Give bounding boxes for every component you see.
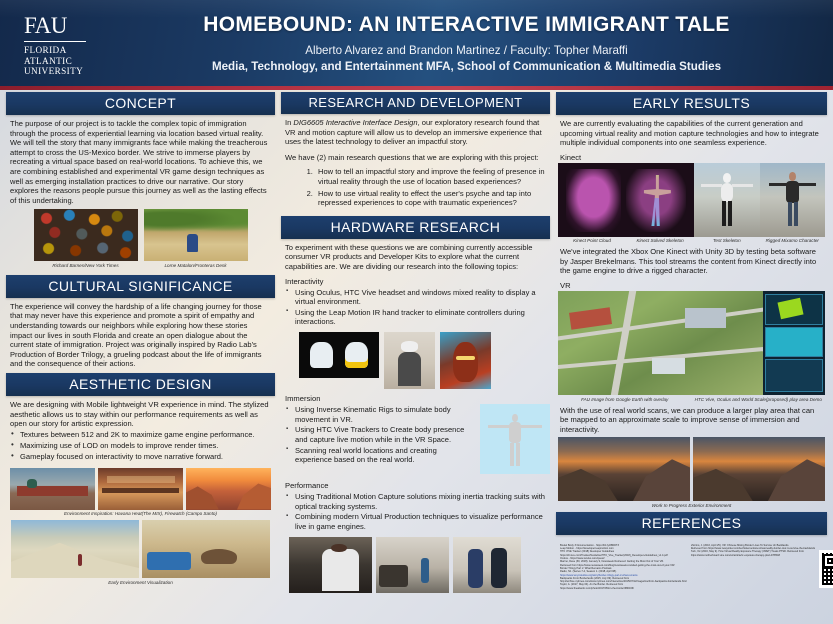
- image-kinect-point-cloud-art: [558, 163, 694, 237]
- image-mocap-performers: [453, 537, 521, 593]
- middle-column: RESEARCH AND DEVELOPMENT In DIG6605 Inte…: [281, 92, 550, 624]
- performance-image-row: [281, 537, 550, 593]
- aerial-building-1: [685, 308, 726, 329]
- aesthetic-visualization-row-wrap: Early Environment Visualization: [6, 520, 275, 586]
- image-mocap-suit-session-art: [289, 537, 372, 593]
- caption-environment-inspiration: Environment Inspiration: Havana Heat(The…: [6, 511, 275, 517]
- fau-logo: FAU FLORIDA ATLANTIC UNIVERSITY: [24, 14, 94, 77]
- section-header-aesthetic-design: AESTHETIC DESIGN: [6, 373, 275, 396]
- image-havana-heat-room: [10, 468, 95, 510]
- section-header-concept: CONCEPT: [6, 92, 275, 115]
- list-item: How to use virtual reality to effect the…: [315, 189, 550, 208]
- concept-body: The purpose of our project is to tackle …: [6, 119, 275, 205]
- image-havana-heat-bar: [98, 468, 183, 510]
- hud-panel-3: [765, 359, 822, 392]
- list-item: Scanning real world locations and creati…: [285, 446, 475, 465]
- kinect-skeleton-overlay: [642, 175, 672, 227]
- mixamo-leg-left: [788, 202, 792, 226]
- image-border-trail-art: [144, 209, 248, 261]
- image-backpack-locks: [34, 209, 138, 261]
- mixamo-head: [789, 172, 796, 181]
- caption-rigged-mixamo-character: Rigged Mixamo Character: [760, 238, 825, 244]
- image-test-skeleton: [694, 163, 759, 237]
- ikrig-leg-left: [510, 443, 514, 467]
- qr-code[interactable]: [819, 550, 833, 588]
- image-havana-heat-room-art: [10, 468, 95, 510]
- list-item: Using Traditional Motion Capture solutio…: [285, 492, 550, 511]
- research-paragraph-2: We have (2) main research questions that…: [285, 153, 546, 163]
- aesthetic-paragraph: We are designing with Mobile lightweight…: [10, 400, 271, 429]
- image-exterior-env-right-art: [693, 437, 825, 501]
- section-header-early-results: EARLY RESULTS: [556, 92, 827, 115]
- image-havana-heat-bar-art: [98, 468, 183, 510]
- immersion-bullet-list: Using Inverse Kinematic Rigs to simulate…: [281, 405, 475, 466]
- caption-test-skeleton: Test Skeleton: [694, 238, 759, 244]
- section-header-research-and-development: RESEARCH AND DEVELOPMENT: [281, 92, 550, 114]
- aesthetic-inspiration-row-wrap: Environment Inspiration: Havana Heat(The…: [6, 468, 275, 518]
- ikrig-arm-left: [488, 425, 509, 428]
- caption-work-in-progress-exterior: Work In Progress Exterior Environment: [558, 503, 825, 509]
- aerial-tennis-court: [569, 307, 612, 329]
- caption-kinect-point-cloud: Kinect Point Cloud: [558, 238, 626, 244]
- fau-logo-line3: UNIVERSITY: [24, 66, 94, 77]
- aesthetic-visualization-row: [6, 520, 275, 578]
- aerial-road-3: [610, 291, 637, 395]
- exterior-environment-block: Work In Progress Exterior Environment: [556, 437, 827, 509]
- kinect-robot-wrap: Test Skeleton: [694, 163, 759, 245]
- header-accent-rule: [0, 86, 833, 90]
- early-results-intro: We are currently evaluating the capabili…: [560, 119, 823, 148]
- hud-panel-2: [765, 327, 822, 356]
- vr-image-row: [558, 291, 825, 395]
- concept-image-right-wrap: Lorne Matalon/Fronteras Desk: [144, 209, 248, 269]
- list-item: Gameplay focused on interactivity to mov…: [10, 452, 275, 461]
- mixamo-arm-right: [798, 183, 816, 186]
- image-fau-aerial-overlay-art: [558, 291, 763, 395]
- concept-image-row: Richard Barnes/New York Times Lorne Mata…: [6, 209, 275, 269]
- ikrig-arm-right: [521, 425, 542, 428]
- image-kitchen-visualization-art: [142, 520, 270, 578]
- list-item: Using Oculus, HTC Vive headset and windo…: [285, 288, 550, 307]
- page-title: HOMEBOUND: AN INTERACTIVE IMMIGRANT TALE: [110, 13, 823, 37]
- performance-bullet-list: Using Traditional Motion Capture solutio…: [281, 492, 550, 533]
- image-kinect-point-cloud: [558, 163, 694, 237]
- image-thermal-vr-user-art: [440, 332, 491, 389]
- references-column-2: Vitorino, J. (2016, April 25). VR: Chine…: [691, 544, 815, 590]
- references-block: Brekel Body 3 Documentation - https://bi…: [556, 542, 827, 590]
- image-ik-rig-avatar: [480, 404, 550, 474]
- image-mocap-studio-room-art: [376, 537, 449, 593]
- mixamo-arm-left: [769, 183, 787, 186]
- references-column-1: Brekel Body 3 Documentation - https://bi…: [560, 544, 687, 590]
- image-vr-headset-user-art: [384, 332, 435, 389]
- ikrig-leg-right: [516, 443, 520, 467]
- image-mocap-studio-room: [376, 537, 449, 593]
- image-playarea-hud: [763, 291, 825, 395]
- poster-columns: CONCEPT The purpose of our project is to…: [0, 92, 833, 624]
- image-mocap-performers-art: [453, 537, 521, 593]
- image-vr-headset-user: [384, 332, 435, 389]
- interactivity-image-row: [281, 332, 550, 389]
- left-column: CONCEPT The purpose of our project is to…: [6, 92, 275, 624]
- image-firewatch-canyon-art: [186, 468, 271, 510]
- caption-early-environment-visualization: Early Environment Visualization: [6, 580, 275, 586]
- kinect-pointcloud-wrap: Kinect Point Cloud Kinect Solved Skeleto…: [558, 163, 694, 245]
- section-header-references: REFERENCES: [556, 512, 827, 535]
- fau-logo-line2: ATLANTIC: [24, 56, 94, 67]
- hardware-intro-body: To experiment with these questions we ar…: [281, 243, 550, 272]
- image-leap-motion-gloves-art: [299, 332, 379, 378]
- kinect-pointcloud-captions: Kinect Point Cloud Kinect Solved Skeleto…: [558, 237, 694, 245]
- caption-kinect-solved-skeleton: Kinect Solved Skeleton: [626, 238, 694, 244]
- image-leap-motion-gloves: [299, 332, 379, 378]
- image-dune-visualization: [11, 520, 139, 578]
- early-results-body: We are currently evaluating the capabili…: [556, 119, 827, 148]
- subsection-label-kinect: Kinect: [560, 153, 827, 162]
- ikrig-torso: [509, 422, 520, 443]
- robot-head: [723, 173, 731, 183]
- vr-image-block: FAU Image from Google Earth with overlay…: [556, 291, 827, 403]
- exterior-environment-row: [558, 437, 825, 501]
- interactivity-bullet-list: Using Oculus, HTC Vive headset and windo…: [281, 288, 550, 329]
- image-exterior-env-right: [693, 437, 825, 501]
- aesthetic-bullet-list: Textures between 512 and 2K to maximize …: [6, 430, 275, 463]
- fau-logo-mark: FAU: [24, 14, 94, 39]
- robot-torso: [721, 183, 733, 202]
- image-kitchen-visualization: [142, 520, 270, 578]
- list-item: Using HTC Vive Trackers to Create body p…: [285, 425, 475, 444]
- caption-playarea-demo: HTC Vive, Oculus and World Scale(propose…: [692, 397, 826, 403]
- kinect-paragraph: We've integrated the Xbox One Kinect wit…: [560, 247, 823, 276]
- poster-header: FAU FLORIDA ATLANTIC UNIVERSITY HOMEBOUN…: [0, 0, 833, 86]
- concept-paragraph: The purpose of our project is to tackle …: [10, 119, 271, 205]
- subsection-label-performance: Performance: [285, 481, 550, 490]
- cultural-paragraph: The experience will convey the hardship …: [10, 302, 271, 369]
- section-header-cultural-significance: CULTURAL SIGNIFICANCE: [6, 275, 275, 298]
- list-item: Textures between 512 and 2K to maximize …: [10, 430, 275, 439]
- robot-leg-left: [722, 201, 726, 226]
- list-item: Using Inverse Kinematic Rigs to simulate…: [285, 405, 475, 424]
- research-questions-list: How to tell an impactful story and impro…: [315, 167, 550, 209]
- research-course-name: DIG6605 Interactive Interface Design: [293, 118, 417, 127]
- image-backpack-locks-art: [34, 209, 138, 261]
- image-mocap-suit-session: [289, 537, 372, 593]
- cultural-body: The experience will convey the hardship …: [6, 302, 275, 369]
- aesthetic-body: We are designing with Mobile lightweight…: [6, 400, 275, 429]
- image-exterior-env-left: [558, 437, 690, 501]
- vr-captions-row: FAU Image from Google Earth with overlay…: [558, 395, 825, 403]
- fau-logo-divider: [24, 41, 86, 42]
- caption-richard-barnes: Richard Barnes/New York Times: [34, 263, 138, 269]
- immersion-row: Using Inverse Kinematic Rigs to simulate…: [281, 404, 550, 474]
- mixamo-leg-right: [794, 202, 798, 226]
- kinect-paragraph-body: We've integrated the Xbox One Kinect wit…: [556, 247, 827, 276]
- vr-paragraph: With the use of real world scans, we can…: [560, 406, 823, 435]
- image-rigged-mixamo-character-art: [760, 163, 825, 237]
- image-exterior-env-left-art: [558, 437, 690, 501]
- image-ik-rig-avatar-art: [480, 404, 550, 474]
- hud-play-area-shape: [777, 298, 803, 319]
- image-thermal-vr-user: [440, 332, 491, 389]
- reference-item: https://www.motherboard.vice.com/en/arti…: [691, 554, 815, 557]
- vr-paragraph-body: With the use of real world scans, we can…: [556, 406, 827, 435]
- title-block: HOMEBOUND: AN INTERACTIVE IMMIGRANT TALE…: [110, 13, 823, 74]
- hud-panel-1: [765, 294, 822, 325]
- qr-code-pattern: [822, 553, 833, 585]
- kinect-image-row: Kinect Point Cloud Kinect Solved Skeleto…: [556, 163, 827, 245]
- list-item: Using the Leap Motion IR hand tracker to…: [285, 308, 550, 327]
- research-paragraph-1: In DIG6605 Interactive Interface Design,…: [285, 118, 546, 147]
- image-firewatch-canyon: [186, 468, 271, 510]
- research-body: In DIG6605 Interactive Interface Design,…: [281, 118, 550, 162]
- caption-fau-google-earth: FAU Image from Google Earth with overlay: [558, 397, 692, 403]
- poster-department: Media, Technology, and Entertainment MFA…: [110, 60, 823, 74]
- image-test-skeleton-art: [694, 163, 759, 237]
- list-item: Combining modern Virtual Production tech…: [285, 512, 550, 531]
- robot-arm-left: [701, 184, 722, 187]
- concept-image-left-wrap: Richard Barnes/New York Times: [34, 209, 138, 269]
- fau-logo-line1: FLORIDA: [24, 45, 94, 56]
- section-header-hardware-research: HARDWARE RESEARCH: [281, 216, 550, 239]
- robot-leg-right: [728, 201, 732, 226]
- aerial-building-2: [652, 358, 685, 375]
- right-column: EARLY RESULTS We are currently evaluatin…: [556, 92, 827, 624]
- robot-arm-right: [732, 184, 753, 187]
- subsection-label-immersion: Immersion: [285, 394, 550, 403]
- list-item: How to tell an impactful story and impro…: [315, 167, 550, 186]
- image-fau-aerial-overlay: [558, 291, 763, 395]
- image-playarea-hud-art: [763, 291, 825, 395]
- image-rigged-mixamo-character: [760, 163, 825, 237]
- list-item: Maximizing use of LOD on models to impro…: [10, 441, 275, 450]
- hardware-intro-paragraph: To experiment with these questions we ar…: [285, 243, 546, 272]
- subsection-label-interactivity: Interactivity: [285, 277, 550, 286]
- reference-item: https://www.theatlantic.com/photo/2017/0…: [560, 587, 687, 590]
- image-dune-visualization-art: [11, 520, 139, 578]
- aesthetic-inspiration-row: [6, 468, 275, 510]
- kinect-mixamo-wrap: Rigged Mixamo Character: [760, 163, 825, 245]
- ikrig-head: [512, 414, 518, 422]
- subsection-label-vr: VR: [560, 281, 827, 290]
- image-border-trail: [144, 209, 248, 261]
- poster-authors: Alberto Alvarez and Brandon Martinez / F…: [110, 44, 823, 58]
- caption-lorne-matalon: Lorne Matalon/Fronteras Desk: [144, 263, 248, 269]
